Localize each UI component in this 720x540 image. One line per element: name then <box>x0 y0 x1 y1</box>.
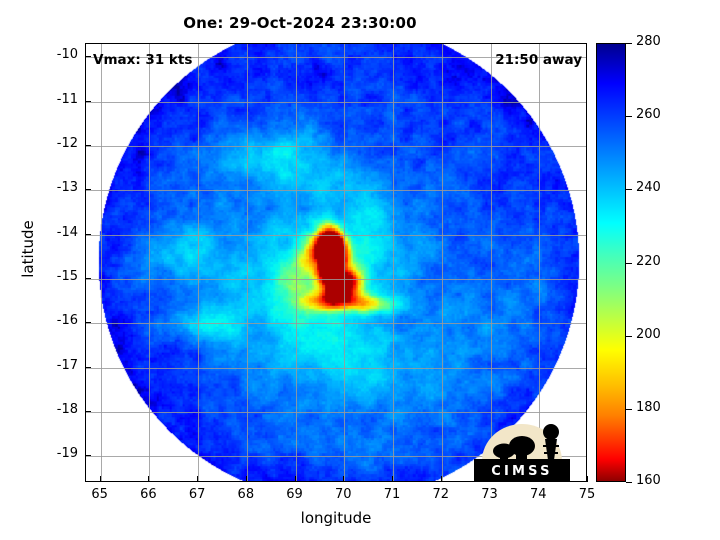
figure-root: One: 29-Oct-2024 23:30:00 Vmax: 31 kts 2… <box>0 0 720 540</box>
x-tick-label: 71 <box>372 487 412 502</box>
x-tick-label: 68 <box>226 487 266 502</box>
y-tick <box>85 411 91 412</box>
x-tick-label: 73 <box>470 487 510 502</box>
x-tick-label: 65 <box>80 487 120 502</box>
vmax-annotation: Vmax: 31 kts <box>93 52 192 68</box>
grid-line-vertical <box>442 44 443 481</box>
x-tick <box>148 476 149 482</box>
x-tick-label: 70 <box>323 487 363 502</box>
y-tick <box>85 234 91 235</box>
y-tick <box>85 145 91 146</box>
time-away-annotation: 21:50 away <box>495 52 582 68</box>
x-tick <box>295 476 296 482</box>
y-tick-label: -17 <box>30 358 78 373</box>
grid-line-horizontal <box>86 190 586 191</box>
x-tick-label: 67 <box>177 487 217 502</box>
y-tick <box>85 101 91 102</box>
y-tick-label: -10 <box>30 47 78 62</box>
x-tick-label: 69 <box>275 487 315 502</box>
y-tick <box>85 455 91 456</box>
grid-line-vertical <box>247 44 248 481</box>
grid-line-vertical <box>198 44 199 481</box>
grid-line-horizontal <box>86 412 586 413</box>
y-axis-label: latitude <box>19 199 37 299</box>
colorbar-tick <box>626 43 632 44</box>
x-tick <box>343 476 344 482</box>
colorbar-tick <box>626 336 632 337</box>
y-tick <box>85 367 91 368</box>
grid-line-vertical <box>344 44 345 481</box>
y-tick-label: -16 <box>30 313 78 328</box>
x-tick <box>392 476 393 482</box>
colorbar-tick-label: 160 <box>636 473 661 488</box>
x-tick <box>587 476 588 482</box>
x-tick <box>441 476 442 482</box>
y-tick-label: -11 <box>30 92 78 107</box>
y-tick-label: -19 <box>30 446 78 461</box>
colorbar-tick <box>626 482 632 483</box>
x-tick <box>197 476 198 482</box>
colorbar-tick-label: 200 <box>636 327 661 342</box>
grid-line-horizontal <box>86 279 586 280</box>
y-tick-label: -14 <box>30 225 78 240</box>
colorbar-tick-label: 260 <box>636 107 661 122</box>
x-tick-label: 72 <box>421 487 461 502</box>
x-tick <box>246 476 247 482</box>
y-tick <box>85 322 91 323</box>
page-title: One: 29-Oct-2024 23:30:00 <box>0 14 600 32</box>
grid-line-vertical <box>393 44 394 481</box>
grid-line-vertical <box>296 44 297 481</box>
x-tick-label: 75 <box>567 487 607 502</box>
y-tick-label: -13 <box>30 180 78 195</box>
colorbar[interactable] <box>596 43 626 482</box>
grid-line-horizontal <box>86 146 586 147</box>
grid-line-vertical <box>101 44 102 481</box>
x-tick-label: 66 <box>128 487 168 502</box>
y-tick-label: -15 <box>30 269 78 284</box>
grid-line-vertical <box>149 44 150 481</box>
colorbar-tick-label: 240 <box>636 180 661 195</box>
cimss-logo: CIMSS <box>470 415 582 481</box>
colorbar-tick-label: 280 <box>636 34 661 49</box>
x-axis-label: longitude <box>85 509 587 527</box>
grid-line-horizontal <box>86 102 586 103</box>
y-tick-label: -18 <box>30 402 78 417</box>
x-tick-label: 74 <box>518 487 558 502</box>
x-tick <box>100 476 101 482</box>
colorbar-tick-label: 220 <box>636 254 661 269</box>
colorbar-tick <box>626 116 632 117</box>
colorbar-tick <box>626 263 632 264</box>
y-tick <box>85 56 91 57</box>
colorbar-tick <box>626 189 632 190</box>
colorbar-tick-label: 180 <box>636 400 661 415</box>
grid-line-horizontal <box>86 323 586 324</box>
y-tick <box>85 278 91 279</box>
grid-line-horizontal <box>86 368 586 369</box>
y-tick-label: -12 <box>30 136 78 151</box>
grid-line-horizontal <box>86 235 586 236</box>
y-tick <box>85 189 91 190</box>
logo-text: CIMSS <box>491 464 552 479</box>
colorbar-tick <box>626 409 632 410</box>
